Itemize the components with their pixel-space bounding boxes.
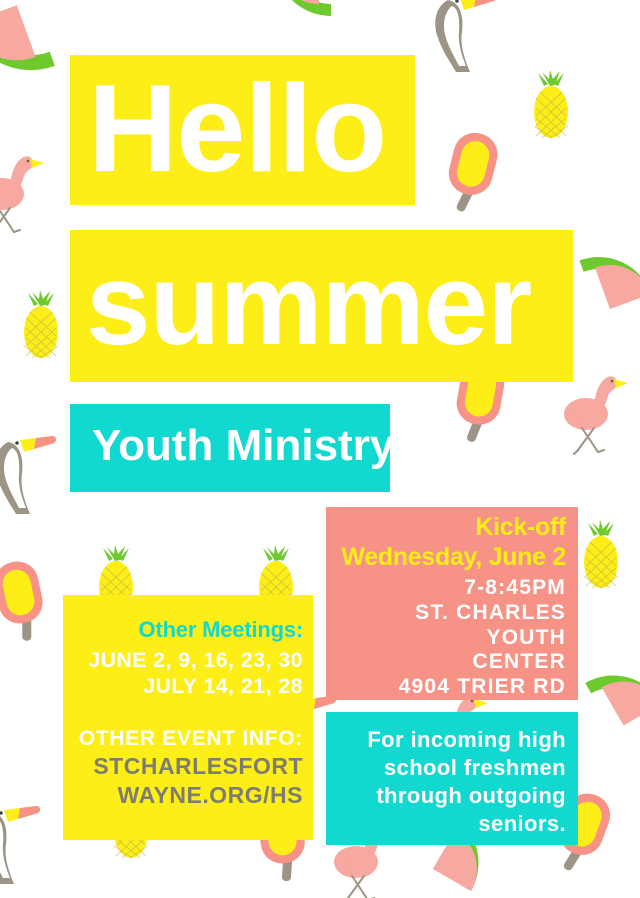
kickoff-venue-line1: ST. CHARLES YOUTH xyxy=(334,601,566,651)
audience-line-2: school freshmen xyxy=(336,754,566,782)
watermelon-slice-icon xyxy=(585,655,640,731)
popsicle-icon xyxy=(440,128,502,217)
toucan-icon xyxy=(0,436,56,514)
other-event-info-heading: OTHER EVENT INFO: xyxy=(69,726,303,751)
flamingo-icon xyxy=(564,376,628,454)
audience-line-3: through outgoing xyxy=(336,782,566,810)
audience-line-1: For incoming high xyxy=(336,726,566,754)
watermelon-slice-icon xyxy=(275,0,331,16)
meetings-dates-june: JUNE 2, 9, 16, 23, 30 xyxy=(69,648,303,674)
hello-banner: Hello xyxy=(70,55,415,205)
other-meetings-panel: Other Meetings: JUNE 2, 9, 16, 23, 30 JU… xyxy=(63,595,313,840)
meetings-heading: Other Meetings: xyxy=(69,617,303,643)
audience-info-panel: For incoming high school freshmen throug… xyxy=(326,712,578,845)
headline-hello: Hello xyxy=(88,67,386,191)
event-info-url-line2[interactable]: WAYNE.ORG/HS xyxy=(69,782,303,809)
pineapple-icon xyxy=(24,290,58,358)
summer-banner: summer xyxy=(70,230,573,382)
headline-summer: summer xyxy=(86,246,531,362)
audience-line-4: seniors. xyxy=(336,810,566,838)
kickoff-date: Wednesday, June 2 xyxy=(334,543,566,573)
kickoff-venue-line2: CENTER xyxy=(334,650,566,675)
watermelon-slice-icon xyxy=(0,0,55,90)
pineapple-icon xyxy=(534,70,568,138)
event-info-url-line1[interactable]: STCHARLESFORT xyxy=(69,753,303,780)
toucan-icon xyxy=(435,0,496,72)
watermelon-slice-icon xyxy=(579,241,640,313)
kickoff-info-panel: Kick-off Wednesday, June 2 7-8:45PM ST. … xyxy=(326,507,578,700)
youth-ministry-banner: Youth Ministry xyxy=(70,404,390,492)
toucan-icon xyxy=(0,806,40,884)
kickoff-label: Kick-off xyxy=(334,513,566,543)
kickoff-address: 4904 TRIER RD xyxy=(334,675,566,700)
summer-youth-ministry-flyer: Hello summer Youth Ministry Kick-off Wed… xyxy=(0,0,640,898)
meetings-dates-july: JULY 14, 21, 28 xyxy=(69,674,303,700)
kickoff-time: 7-8:45PM xyxy=(334,576,566,601)
pineapple-icon xyxy=(584,520,618,588)
flamingo-icon xyxy=(0,156,44,234)
subtitle-youth-ministry: Youth Ministry xyxy=(92,424,394,468)
popsicle-icon xyxy=(0,558,50,646)
